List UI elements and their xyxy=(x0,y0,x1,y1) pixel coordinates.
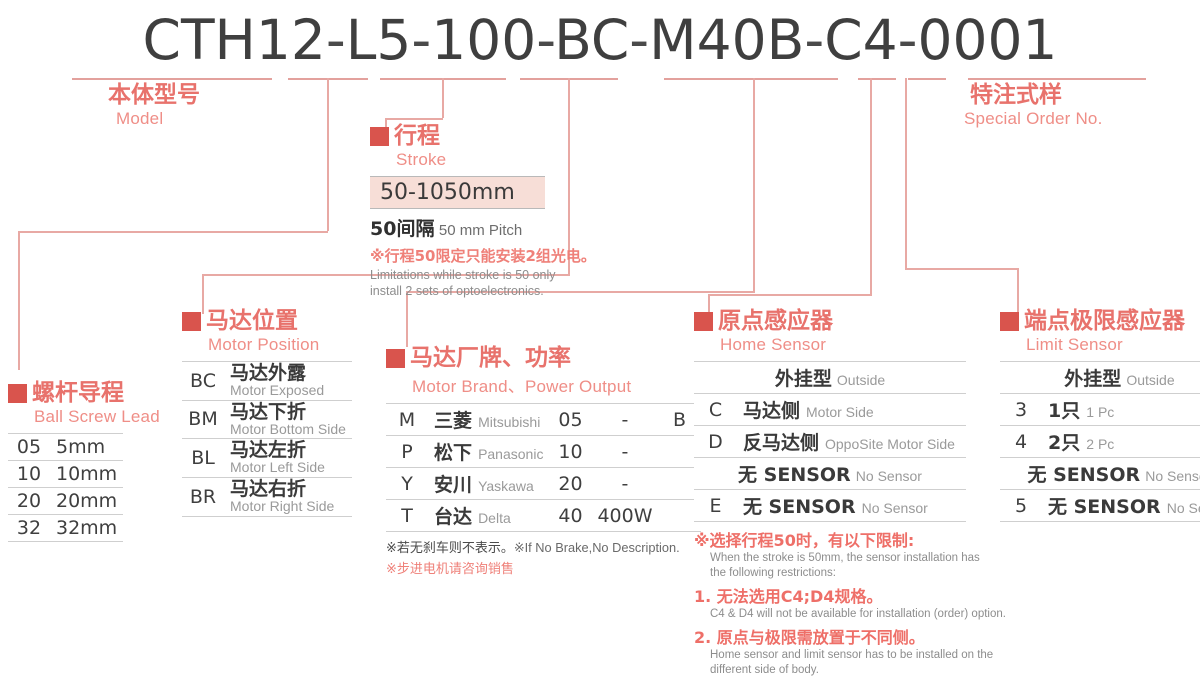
home-subheader-en: No Sensor xyxy=(856,468,922,484)
group-model: 本体型号 Model xyxy=(108,84,200,129)
limit-header-en: Outside xyxy=(1126,372,1174,388)
table-row: 4 2只 2 Pc xyxy=(1000,426,1200,458)
motorbrand-title-row: 马达厂牌、功率 xyxy=(386,347,701,370)
limit-header-cell: 外挂型 Outside xyxy=(1000,362,1200,394)
motorpos-title-cn: 马达位置 xyxy=(206,310,298,333)
motorpos-en-1: Motor Bottom Side xyxy=(230,422,346,437)
model-title-en: Model xyxy=(116,109,200,129)
table-row: C 马达侧 Motor Side xyxy=(694,394,966,426)
limit-value-0: 1只 1 Pc xyxy=(1042,394,1200,426)
lead-value-1: 10mm xyxy=(50,461,123,488)
stroke-note-en-line2: install 2 sets of optoelectronics. xyxy=(370,284,596,300)
lead-value-0: 5mm xyxy=(50,434,123,461)
brand-name-0: 三菱 Mitsubishi xyxy=(428,404,549,436)
lead-title-en: Ball Screw Lead xyxy=(34,407,160,427)
wire-motorpos-v2 xyxy=(202,274,204,314)
home-sensor-table: 外挂型 Outside C 马达侧 Motor Side D 反马达侧 Oppo… xyxy=(694,361,966,522)
motorpos-cn-1: 马达下折 xyxy=(230,403,346,423)
table-row: P 松下 Panasonic 10 - xyxy=(386,436,701,468)
warning-head-en: When the stroke is 50mm, the sensor inst… xyxy=(710,551,1006,581)
brand-power-2: - xyxy=(591,468,658,500)
motorpos-title-row: 马达位置 xyxy=(182,310,352,333)
motorbrand-note-en: ※If No Brake,No Description. xyxy=(514,540,680,555)
warning-item1-cn: 1. 无法选用C4;D4规格。 xyxy=(694,583,1006,607)
motorpos-code-3: BR xyxy=(182,477,224,516)
lead-value-3: 32mm xyxy=(50,515,123,542)
limit-code-1: 4 xyxy=(1000,426,1042,458)
motorbrand-note-cn: ※若无刹车则不表示。 xyxy=(386,541,514,556)
code-dash: - xyxy=(411,8,431,72)
underline-limit-sensor xyxy=(908,78,946,80)
limit-cn-0: 1只 xyxy=(1048,400,1080,422)
motorpos-value-3: 马达右折 Motor Right Side xyxy=(224,477,352,516)
motorpos-cn-2: 马达左折 xyxy=(230,441,346,461)
motor-brand-table: M 三菱 Mitsubishi 05 - B P 松下 Panasonic 10… xyxy=(386,403,701,532)
motorpos-code-2: BL xyxy=(182,439,224,478)
brand-en-3: Delta xyxy=(478,510,511,526)
home-sensor-bullet-icon xyxy=(694,312,713,331)
lead-title-row: 螺杆导程 xyxy=(8,382,160,405)
limit-title-en: Limit Sensor xyxy=(1026,335,1200,355)
home-subheader-cn: 无 SENSOR xyxy=(738,464,851,486)
lead-code-2: 20 xyxy=(8,488,50,515)
wire-stroke-v1 xyxy=(442,78,444,118)
home-value-0: 马达侧 Motor Side xyxy=(737,394,966,426)
brand-code-1: P xyxy=(386,436,428,468)
table-row-header: 外挂型 Outside xyxy=(1000,362,1200,394)
underline-model xyxy=(72,78,272,80)
limit-code-2: 5 xyxy=(1000,490,1042,522)
table-row: 10 10mm xyxy=(8,461,123,488)
warning-head-en-1: When the stroke is 50mm, the sensor inst… xyxy=(710,551,1006,566)
motor-position-bullet-icon xyxy=(182,312,201,331)
brand-power-3: 400W xyxy=(591,500,658,532)
table-row: 3 1只 1 Pc xyxy=(1000,394,1200,426)
home-en-2: No Sensor xyxy=(862,500,928,516)
brand-code-0: M xyxy=(386,404,428,436)
model-title-cn: 本体型号 xyxy=(108,84,200,107)
limit-sensor-table: 外挂型 Outside 3 1只 1 Pc 4 2只 2 Pc xyxy=(1000,361,1200,522)
code-segment-special-order: 0001 xyxy=(917,8,1057,72)
group-stroke: 行程 Stroke 50-1050mm 50间隔 50 mm Pitch ※行程… xyxy=(370,125,596,299)
motorpos-en-0: Motor Exposed xyxy=(230,383,346,398)
limit-en-0: 1 Pc xyxy=(1086,404,1114,420)
stroke-note-en-line1: Limitations while stroke is 50 only xyxy=(370,268,596,284)
warning-head-cn: ※选择行程50时，有以下限制: xyxy=(694,527,1006,551)
motorpos-code-0: BC xyxy=(182,362,224,401)
wire-lead-h xyxy=(18,231,328,233)
brand-cn-0: 三菱 xyxy=(434,410,472,432)
brand-en-1: Panasonic xyxy=(478,446,543,462)
limit-value-1: 2只 2 Pc xyxy=(1042,426,1200,458)
brand-power-0: - xyxy=(591,404,658,436)
stroke-title-cn: 行程 xyxy=(394,125,440,148)
motorpos-cn-0: 马达外露 xyxy=(230,364,346,384)
motorpos-en-2: Motor Left Side xyxy=(230,460,346,475)
stroke-bullet-icon xyxy=(370,127,389,146)
group-special-order: 特注式样 Special Order No. xyxy=(970,84,1103,129)
underline-motor-brand xyxy=(664,78,838,80)
brand-power-code-0: 05 xyxy=(549,404,591,436)
motorpos-title-en: Motor Position xyxy=(208,335,352,355)
code-segment-motor-brand: M40B xyxy=(649,8,804,72)
home-header-en: Outside xyxy=(837,372,885,388)
lead-code-0: 05 xyxy=(8,434,50,461)
brand-name-1: 松下 Panasonic xyxy=(428,436,549,468)
table-row-header: 无 SENSOR No Sensor xyxy=(1000,458,1200,490)
lead-code-1: 10 xyxy=(8,461,50,488)
table-row: BR 马达右折 Motor Right Side xyxy=(182,477,352,516)
wire-stroke-h xyxy=(385,118,443,120)
code-segment-stroke: 100 xyxy=(431,8,536,72)
table-row: BM 马达下折 Motor Bottom Side xyxy=(182,400,352,439)
motor-brand-bullet-icon xyxy=(386,349,405,368)
lead-value-2: 20mm xyxy=(50,488,123,515)
diagram-canvas: CTH12-L5-100-BC-M40B-C4-0001 本体型号 Model xyxy=(0,0,1200,605)
wire-motorbrand-v1 xyxy=(753,78,755,291)
code-dash: - xyxy=(536,8,554,72)
limit-value-2: 无 SENSOR No Sensor xyxy=(1042,490,1200,522)
home-code-0: C xyxy=(694,394,737,426)
table-row: 32 32mm xyxy=(8,515,123,542)
motor-position-table: BC 马达外露 Motor Exposed BM 马达下折 Motor Bott… xyxy=(182,361,352,517)
group-ball-screw-lead: 螺杆导程 Ball Screw Lead 05 5mm 10 10mm 20 2… xyxy=(8,382,160,542)
limit-cn-1: 2只 xyxy=(1048,432,1080,454)
wire-lead-v2 xyxy=(18,231,20,370)
wire-limit-v1 xyxy=(905,78,907,268)
model-title-row: 本体型号 xyxy=(108,84,200,107)
wire-limit-v2 xyxy=(1017,268,1019,314)
motorbrand-note-red: ※步进电机请咨询销售 xyxy=(386,558,701,577)
group-limit-sensor: 端点极限感应器 Limit Sensor 外挂型 Outside 3 1只 1 … xyxy=(1000,310,1200,522)
table-row: E 无 SENSOR No Sensor xyxy=(694,490,966,522)
lead-code-3: 32 xyxy=(8,515,50,542)
wire-home-v1 xyxy=(870,78,872,294)
warning-item2-en-1: Home sensor and limit sensor has to be i… xyxy=(710,648,1006,663)
code-dash: - xyxy=(804,8,824,72)
code-segment-model: CTH12 xyxy=(143,8,326,72)
limit-subheader-en: No Sensor xyxy=(1145,468,1200,484)
brand-name-2: 安川 Yaskawa xyxy=(428,468,549,500)
motorbrand-footnote-row: ※若无刹车则不表示。※If No Brake,No Description. xyxy=(386,537,701,556)
home-en-0: Motor Side xyxy=(806,404,874,420)
limit-subheader-cell: 无 SENSOR No Sensor xyxy=(1000,458,1200,490)
motorpos-en-3: Motor Right Side xyxy=(230,499,346,514)
table-row: T 台达 Delta 40 400W xyxy=(386,500,701,532)
code-segment-motor-position: BC xyxy=(554,8,629,72)
brand-code-3: T xyxy=(386,500,428,532)
motorpos-cn-3: 马达右折 xyxy=(230,480,346,500)
underline-special-order xyxy=(968,78,1146,80)
brand-power-code-1: 10 xyxy=(549,436,591,468)
home-code-1: D xyxy=(694,426,737,458)
motorpos-value-1: 马达下折 Motor Bottom Side xyxy=(224,400,352,439)
home-cn-0: 马达侧 xyxy=(743,400,800,422)
brand-cn-3: 台达 xyxy=(434,506,472,528)
stroke-pitch-row: 50间隔 50 mm Pitch xyxy=(370,214,596,241)
limit-code-0: 3 xyxy=(1000,394,1042,426)
home-value-2: 无 SENSOR No Sensor xyxy=(737,490,966,522)
home-title-cn: 原点感应器 xyxy=(718,310,833,333)
home-code-2: E xyxy=(694,490,737,522)
limit-subheader-cn: 无 SENSOR xyxy=(1027,464,1140,486)
home-header-cell: 外挂型 Outside xyxy=(694,362,966,394)
code-dash: - xyxy=(898,8,918,72)
brand-power-code-2: 20 xyxy=(549,468,591,500)
home-header-cn: 外挂型 xyxy=(775,368,832,390)
home-title-row: 原点感应器 xyxy=(694,310,1006,333)
home-subheader-cell: 无 SENSOR No Sensor xyxy=(694,458,966,490)
stroke-pitch-en: 50 mm Pitch xyxy=(439,222,522,239)
stroke-note-cn: ※行程50限定只能安装2组光电。 xyxy=(370,245,596,266)
table-row: BC 马达外露 Motor Exposed xyxy=(182,362,352,401)
limit-title-cn: 端点极限感应器 xyxy=(1024,310,1185,333)
stroke-title-row: 行程 xyxy=(370,125,596,148)
product-code-string: CTH12-L5-100-BC-M40B-C4-0001 xyxy=(0,8,1200,72)
warning-item1-en: C4 & D4 will not be available for instal… xyxy=(710,607,1006,622)
brand-power-code-3: 40 xyxy=(549,500,591,532)
limit-sensor-bullet-icon xyxy=(1000,312,1019,331)
table-row: 20 20mm xyxy=(8,488,123,515)
special-title-en: Special Order No. xyxy=(964,109,1103,129)
wire-lead-v1 xyxy=(327,78,329,231)
group-motor-position: 马达位置 Motor Position BC 马达外露 Motor Expose… xyxy=(182,310,352,517)
brand-cn-1: 松下 xyxy=(434,442,472,464)
lead-bullet-icon xyxy=(8,384,27,403)
motorbrand-title-cn: 马达厂牌、功率 xyxy=(410,347,571,370)
table-row-header: 外挂型 Outside xyxy=(694,362,966,394)
code-segment-lead: L5 xyxy=(346,8,412,72)
limit-en-1: 2 Pc xyxy=(1086,436,1114,452)
limit-cn-2: 无 SENSOR xyxy=(1048,496,1161,518)
warning-item2-en: Home sensor and limit sensor has to be i… xyxy=(710,648,1006,678)
brand-power-1: - xyxy=(591,436,658,468)
group-motor-brand: 马达厂牌、功率 Motor Brand、Power Output M 三菱 Mi… xyxy=(386,347,701,577)
special-title-row: 特注式样 xyxy=(970,84,1103,107)
table-row: D 反马达侧 OppoSite Motor Side xyxy=(694,426,966,458)
brand-code-2: Y xyxy=(386,468,428,500)
stroke-pitch-cn: 50间隔 xyxy=(370,218,434,240)
brand-name-3: 台达 Delta xyxy=(428,500,549,532)
lead-title-cn: 螺杆导程 xyxy=(32,382,124,405)
table-row: Y 安川 Yaskawa 20 - xyxy=(386,468,701,500)
underline-home-sensor xyxy=(858,78,896,80)
ball-screw-lead-table: 05 5mm 10 10mm 20 20mm 32 32mm xyxy=(8,433,123,542)
home-sensor-warning-block: ※选择行程50时，有以下限制: When the stroke is 50mm,… xyxy=(694,527,1006,678)
warning-head-en-2: the following restrictions: xyxy=(710,566,1006,581)
code-segment-sensors: C4 xyxy=(824,8,897,72)
motorpos-value-2: 马达左折 Motor Left Side xyxy=(224,439,352,478)
home-title-en: Home Sensor xyxy=(720,335,1006,355)
motorpos-value-0: 马达外露 Motor Exposed xyxy=(224,362,352,401)
table-row: 5 无 SENSOR No Sensor xyxy=(1000,490,1200,522)
brand-en-0: Mitsubishi xyxy=(478,414,540,430)
home-value-1: 反马达侧 OppoSite Motor Side xyxy=(737,426,966,458)
warning-item2-en-2: different side of body. xyxy=(710,663,1006,678)
code-dash: - xyxy=(629,8,649,72)
table-row: BL 马达左折 Motor Left Side xyxy=(182,439,352,478)
limit-header-cn: 外挂型 xyxy=(1064,368,1121,390)
home-cn-1: 反马达侧 xyxy=(743,432,819,454)
special-title-cn: 特注式样 xyxy=(970,84,1062,107)
limit-en-2: No Sensor xyxy=(1167,500,1200,516)
home-en-1: OppoSite Motor Side xyxy=(825,436,955,452)
limit-title-row: 端点极限感应器 xyxy=(1000,310,1200,333)
wire-limit-h xyxy=(905,268,1018,270)
stroke-title-en: Stroke xyxy=(396,150,596,170)
table-row: M 三菱 Mitsubishi 05 - B xyxy=(386,404,701,436)
motorbrand-title-en: Motor Brand、Power Output xyxy=(412,372,701,397)
motorpos-code-1: BM xyxy=(182,400,224,439)
brand-cn-2: 安川 xyxy=(434,474,472,496)
wire-home-h xyxy=(708,294,872,296)
brand-en-2: Yaskawa xyxy=(478,478,534,494)
wire-motorbrand-v2 xyxy=(406,291,408,347)
home-cn-2: 无 SENSOR xyxy=(743,496,856,518)
code-dash: - xyxy=(326,8,346,72)
stroke-note-en: Limitations while stroke is 50 only inst… xyxy=(370,268,596,299)
stroke-range-box: 50-1050mm xyxy=(370,176,545,209)
warning-item2-cn: 2. 原点与极限需放置于不同侧。 xyxy=(694,624,1006,648)
table-row-header: 无 SENSOR No Sensor xyxy=(694,458,966,490)
group-home-sensor: 原点感应器 Home Sensor 外挂型 Outside C 马达侧 Moto… xyxy=(694,310,1006,678)
table-row: 05 5mm xyxy=(8,434,123,461)
